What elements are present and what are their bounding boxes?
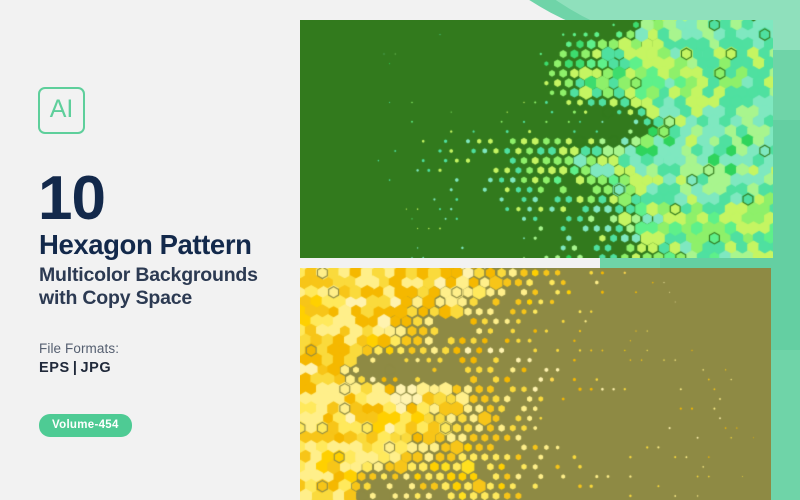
- file-formats-label: File Formats:: [39, 341, 119, 356]
- preview-green-hexagon-halftone: [300, 20, 773, 258]
- info-panel: AI 10 Hexagon Pattern Multicolor Backgro…: [38, 0, 290, 500]
- ai-badge-label: AI: [50, 97, 74, 122]
- adobe-illustrator-badge-icon: AI: [38, 87, 85, 134]
- volume-badge: Volume-454: [39, 414, 132, 437]
- file-format-jpg: JPG: [81, 360, 112, 376]
- file-format-separator: |: [70, 360, 81, 376]
- page-subtitle-line-1: Multicolor Backgrounds: [39, 264, 258, 287]
- page-title: Hexagon Pattern: [39, 231, 252, 259]
- preview-yellow-hexagon-halftone: [300, 268, 771, 500]
- promo-canvas: AI 10 Hexagon Pattern Multicolor Backgro…: [0, 0, 800, 500]
- page-subtitle-line-2: with Copy Space: [39, 287, 258, 310]
- page-subtitle: Multicolor Backgrounds with Copy Space: [39, 264, 258, 310]
- file-format-eps: EPS: [39, 360, 70, 376]
- pack-count: 10: [38, 168, 105, 230]
- file-formats-value: EPS|JPG: [39, 360, 111, 376]
- preview-green-canvas: [300, 20, 773, 258]
- preview-yellow-canvas: [300, 268, 771, 500]
